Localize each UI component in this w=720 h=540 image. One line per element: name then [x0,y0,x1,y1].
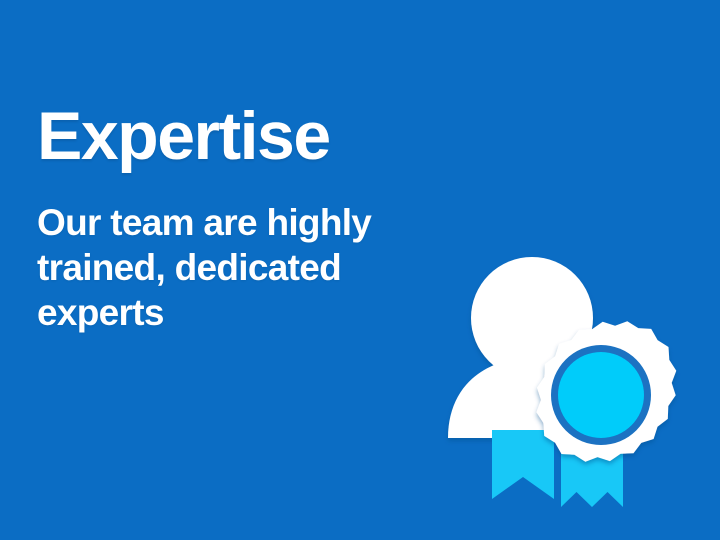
page-title: Expertise [37,100,457,172]
slide-canvas: Expertise Our team are highly trained, d… [0,0,720,540]
subtitle-line-1: Our team are highly [37,200,457,245]
slide-text-block: Expertise Our team are highly trained, d… [37,100,457,335]
slide-subtitle: Our team are highly trained, dedicated e… [37,172,457,335]
badge-ribbon-shape [492,430,554,499]
badge-center-circle [558,352,644,438]
subtitle-line-2: trained, dedicated [37,245,457,290]
subtitle-line-3: experts [37,290,457,335]
person-with-award-badge-icon [430,230,710,520]
